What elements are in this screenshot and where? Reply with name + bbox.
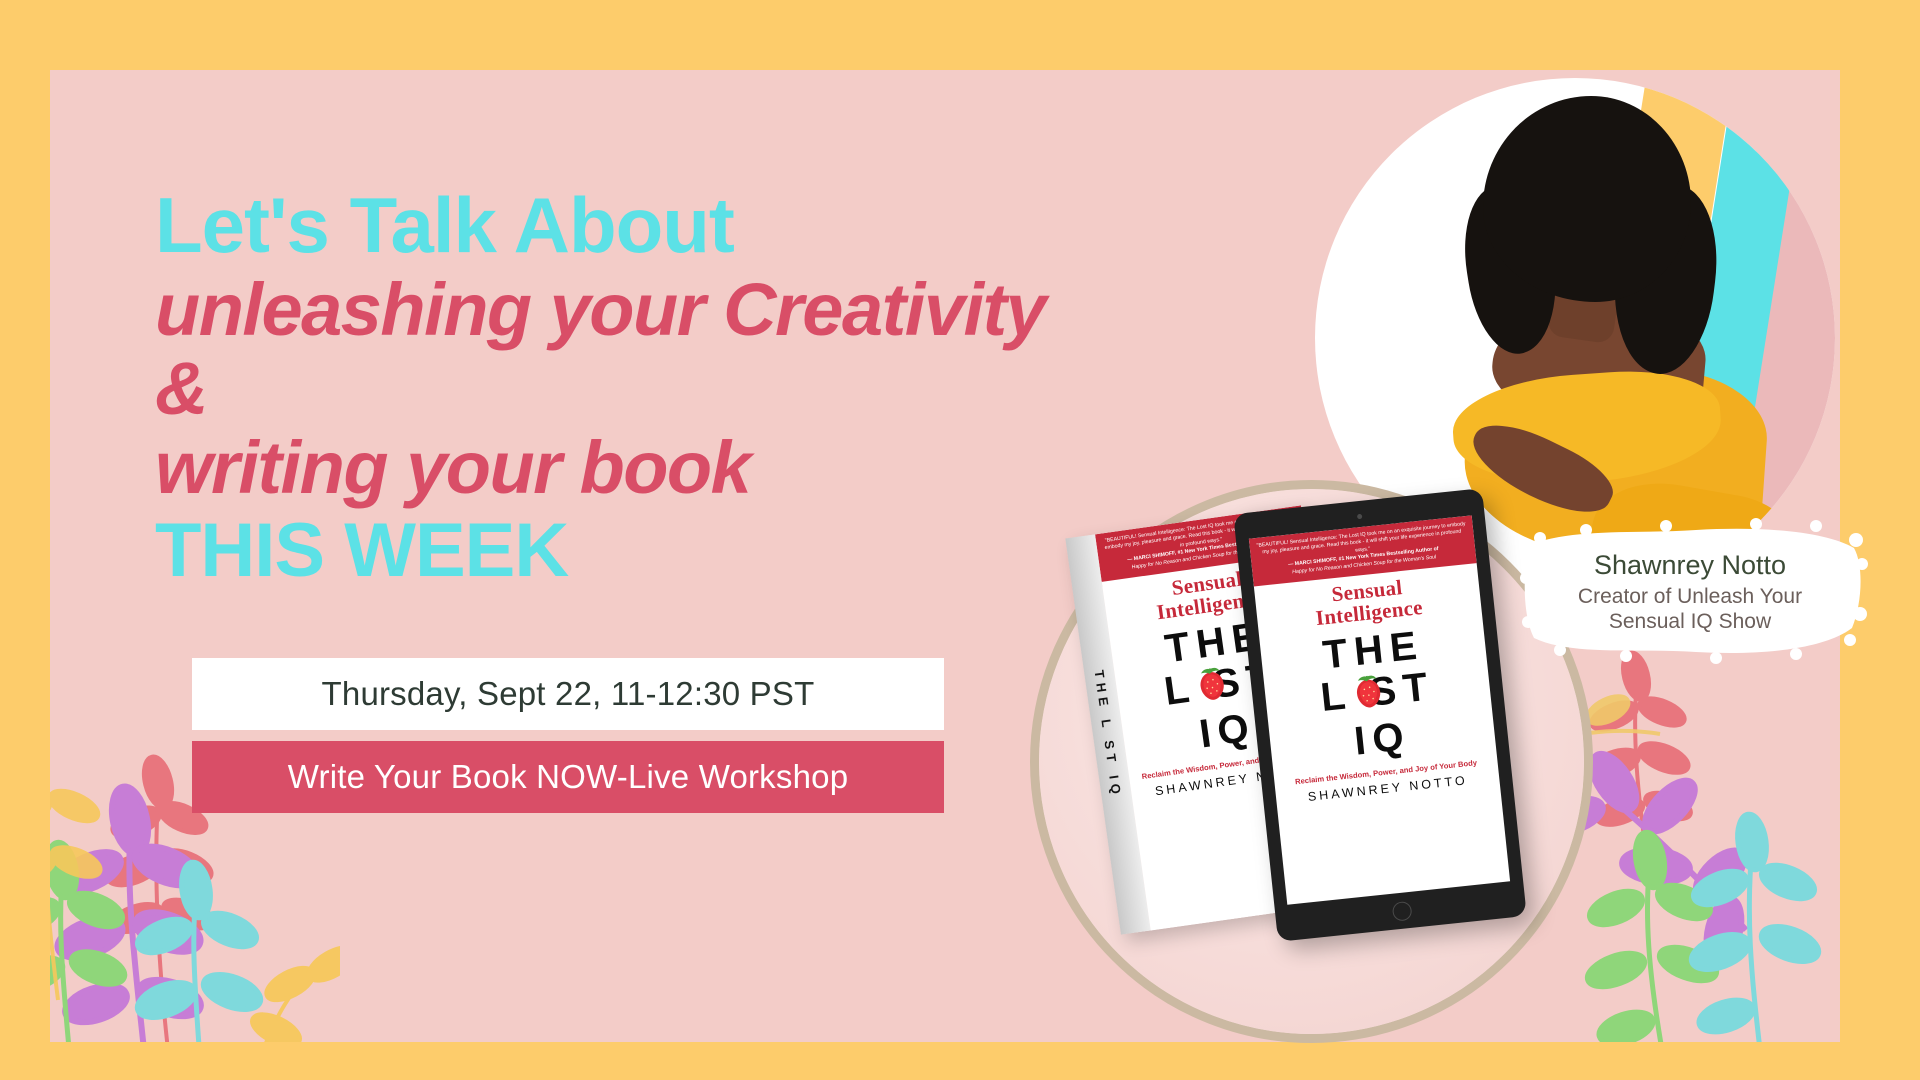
cta-button[interactable]: Write Your Book NOW-Live Workshop xyxy=(192,741,944,813)
tablet-camera-icon xyxy=(1356,514,1361,519)
strawberry-icon xyxy=(1350,673,1387,710)
event-date-label: Thursday, Sept 22, 11-12:30 PST xyxy=(322,675,815,713)
speaker-name-card: Shawnrey Notto Creator of Unleash Your S… xyxy=(1530,528,1850,656)
event-date-banner: Thursday, Sept 22, 11-12:30 PST xyxy=(192,658,944,730)
headline-line-1: Let's Talk About xyxy=(155,185,1335,266)
headline-line-4: writing your book xyxy=(155,430,1335,507)
tablet-home-button-icon[interactable] xyxy=(1391,901,1412,922)
tablet-device: "BEAUTIFUL! Sensual Intelligence: The Lo… xyxy=(1233,488,1527,942)
speaker-title-line-2: Sensual IQ Show xyxy=(1609,610,1771,633)
speaker-name: Shawnrey Notto xyxy=(1594,550,1786,581)
headline-line-3: & xyxy=(155,351,1335,428)
headline-line-2: unleashing your Creativity xyxy=(155,272,1335,349)
cta-button-label: Write Your Book NOW-Live Workshop xyxy=(288,758,849,796)
poster-canvas: Let's Talk About unleashing your Creativ… xyxy=(0,0,1920,1080)
tablet-ebook-cover: "BEAUTIFUL! Sensual Intelligence: The Lo… xyxy=(1249,515,1510,904)
strawberry-icon xyxy=(1193,665,1231,703)
speaker-title-line-1: Creator of Unleash Your xyxy=(1578,585,1802,608)
